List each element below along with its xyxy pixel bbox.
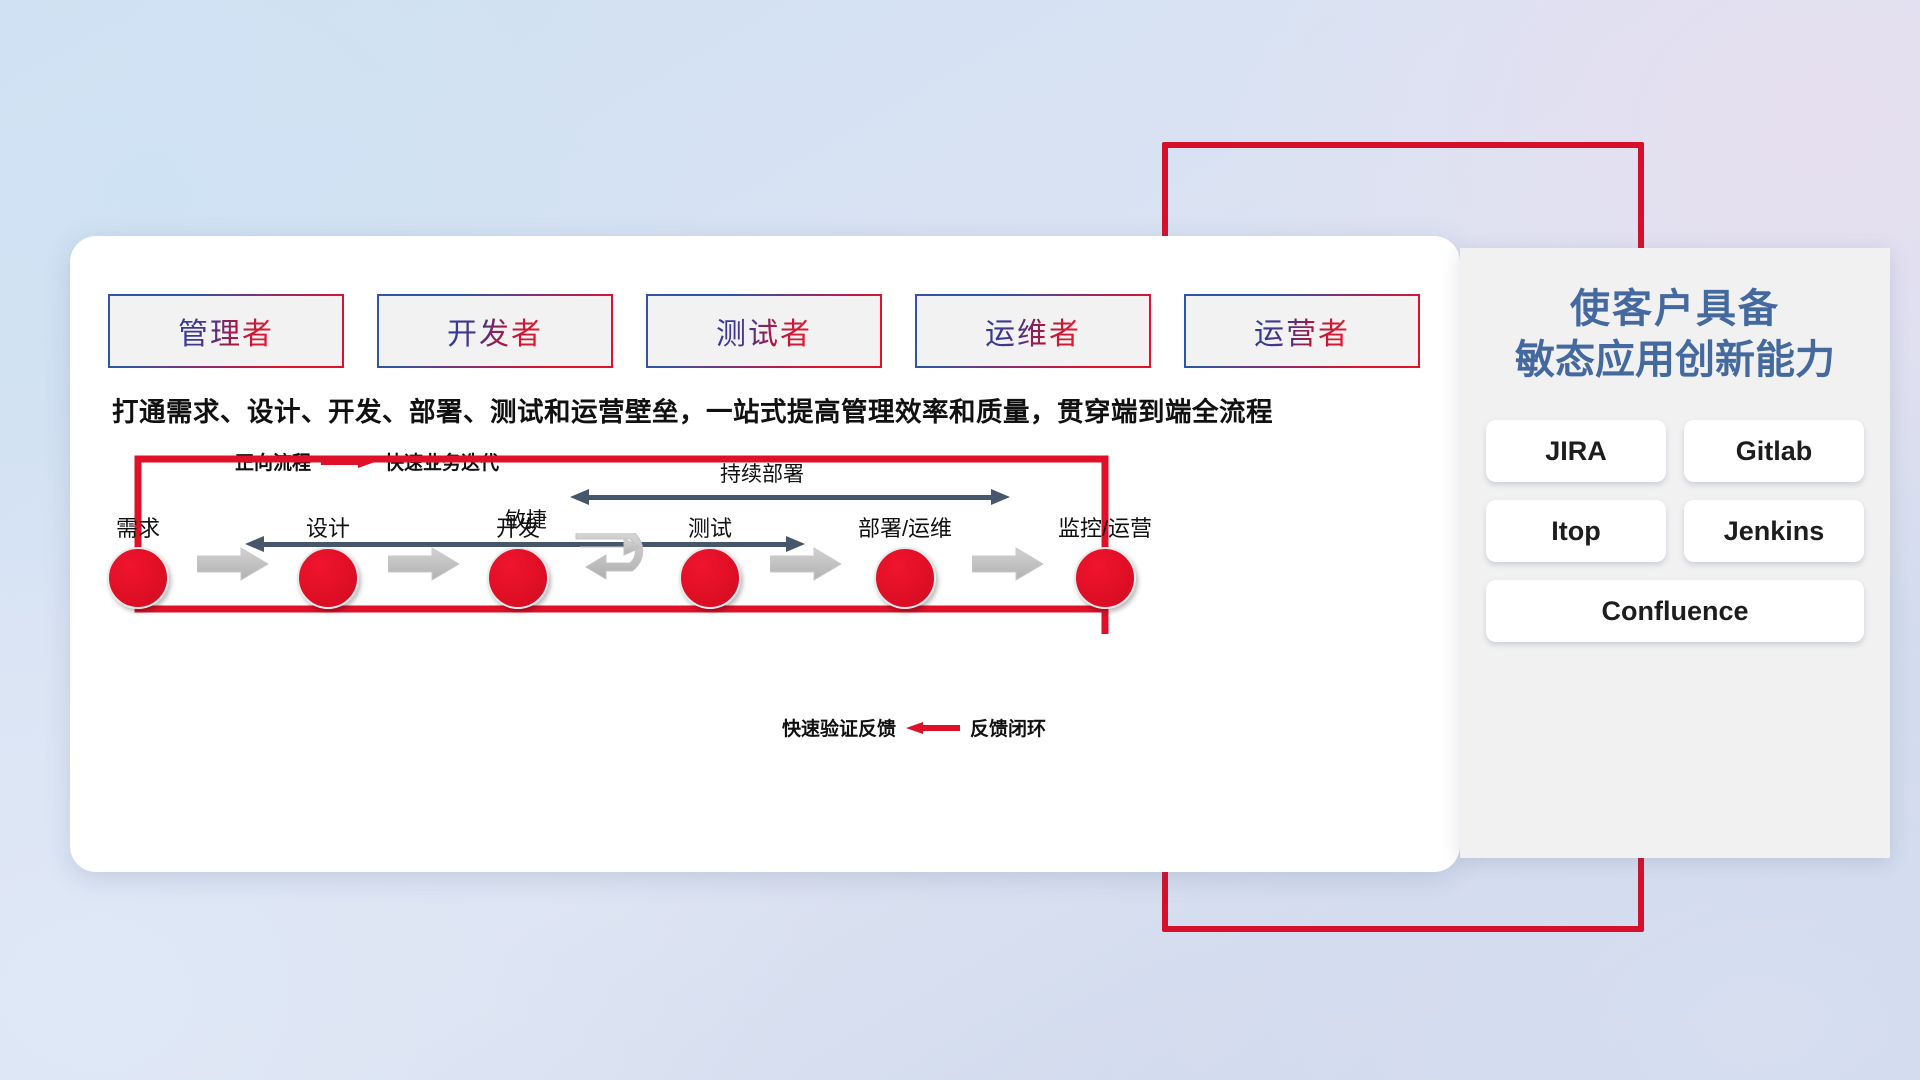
feedback-result-label: 快速验证反馈	[782, 714, 896, 741]
pipeline-stage-label-0: 需求	[106, 511, 170, 543]
flow-arrow-2	[770, 547, 832, 581]
description-text: 打通需求、设计、开发、部署、测试和运营壁垒，一站式提高管理效率和质量，贯穿端到端…	[112, 390, 1422, 429]
pipeline-stage-5[interactable]: 监控/运营	[1042, 511, 1168, 609]
continuous-deploy-label: 持续部署	[720, 458, 804, 488]
tool-chip-label: Gitlab	[1736, 436, 1813, 467]
tool-chip-itop[interactable]: Itop	[1486, 500, 1666, 562]
right-panel-title: 使客户具备 敏态应用创新能力	[1460, 248, 1890, 386]
role-label-4: 运营者	[1254, 309, 1350, 353]
role-box-list: 管理者 开发者 测试者 运维者 运营者	[110, 296, 1418, 366]
pipeline-stage-2[interactable]: 开发	[486, 511, 550, 609]
arrow-shaft	[589, 495, 991, 500]
arrow-head-right-icon	[991, 489, 1010, 505]
tool-chip-jira[interactable]: JIRA	[1486, 420, 1666, 482]
arrow-head-left-icon	[570, 489, 589, 505]
role-box-3[interactable]: 运维者	[917, 296, 1149, 366]
pipeline-stage-label-1: 设计	[296, 511, 360, 543]
forward-flow-result: 快速业务迭代	[385, 448, 499, 475]
tool-chip-confluence[interactable]: Confluence	[1486, 580, 1864, 642]
role-label-0: 管理者	[178, 309, 274, 353]
pipeline-stage-0[interactable]: 需求	[106, 511, 170, 609]
tool-chip-label: Jenkins	[1724, 516, 1825, 547]
flow-arrow-1	[388, 547, 450, 581]
tool-chip-label: Confluence	[1601, 596, 1748, 627]
tool-chip-label: JIRA	[1545, 436, 1607, 467]
continuous-deploy-arrow	[570, 489, 1010, 505]
pipeline-stage-label-2: 开发	[486, 511, 550, 543]
slide-canvas: 管理者 开发者 测试者 运维者 运营者 打通需求、设计、开发、部署、测试和运营壁…	[0, 0, 1920, 1080]
feedback-loop-label: 反馈闭环	[970, 714, 1046, 741]
role-label-1: 开发者	[447, 309, 543, 353]
pipeline-stage-dot-2	[487, 547, 549, 609]
iteration-loop-arrow	[572, 533, 668, 589]
red-arrow-left-icon	[906, 722, 960, 733]
main-card: 管理者 开发者 测试者 运维者 运营者 打通需求、设计、开发、部署、测试和运营壁…	[70, 236, 1460, 872]
pipeline-stage-dot-5	[1074, 547, 1136, 609]
pipeline-stage-3[interactable]: 测试	[678, 511, 742, 609]
right-panel-title-line2: 敏态应用创新能力	[1460, 335, 1890, 386]
role-label-3: 运维者	[985, 309, 1081, 353]
role-box-4[interactable]: 运营者	[1186, 296, 1418, 366]
pipeline-stage-dot-1	[297, 547, 359, 609]
right-panel-title-line1: 使客户具备	[1460, 284, 1890, 335]
role-box-1[interactable]: 开发者	[379, 296, 611, 366]
pipeline: 需求 设计 开发	[70, 511, 1460, 701]
pipeline-stage-dot-3	[679, 547, 741, 609]
flow-arrow-0	[197, 547, 259, 581]
tool-chip-label: Itop	[1551, 516, 1600, 547]
pipeline-stage-dot-4	[874, 547, 936, 609]
tool-chip-list: JIRA Gitlab Itop Jenkins Confluence	[1460, 386, 1890, 642]
pipeline-stage-label-3: 测试	[678, 511, 742, 543]
forward-flow-annotation: 正向流程 快速业务迭代	[235, 448, 499, 475]
role-box-0[interactable]: 管理者	[110, 296, 342, 366]
right-panel: 使客户具备 敏态应用创新能力 JIRA Gitlab Itop Jenkins …	[1460, 248, 1890, 858]
role-label-2: 测试者	[716, 309, 812, 353]
pipeline-stage-4[interactable]: 部署/运维	[842, 511, 968, 609]
flow-arrow-3	[972, 547, 1034, 581]
red-arrow-right-icon	[321, 456, 375, 467]
feedback-annotation: 快速验证反馈 反馈闭环	[782, 714, 1046, 741]
pipeline-stage-label-4: 部署/运维	[842, 511, 968, 543]
pipeline-stage-label-5: 监控/运营	[1042, 511, 1168, 543]
forward-flow-label: 正向流程	[235, 448, 311, 475]
tool-chip-jenkins[interactable]: Jenkins	[1684, 500, 1864, 562]
role-box-2[interactable]: 测试者	[648, 296, 880, 366]
tool-chip-gitlab[interactable]: Gitlab	[1684, 420, 1864, 482]
pipeline-stage-dot-0	[107, 547, 169, 609]
pipeline-stage-1[interactable]: 设计	[296, 511, 360, 609]
